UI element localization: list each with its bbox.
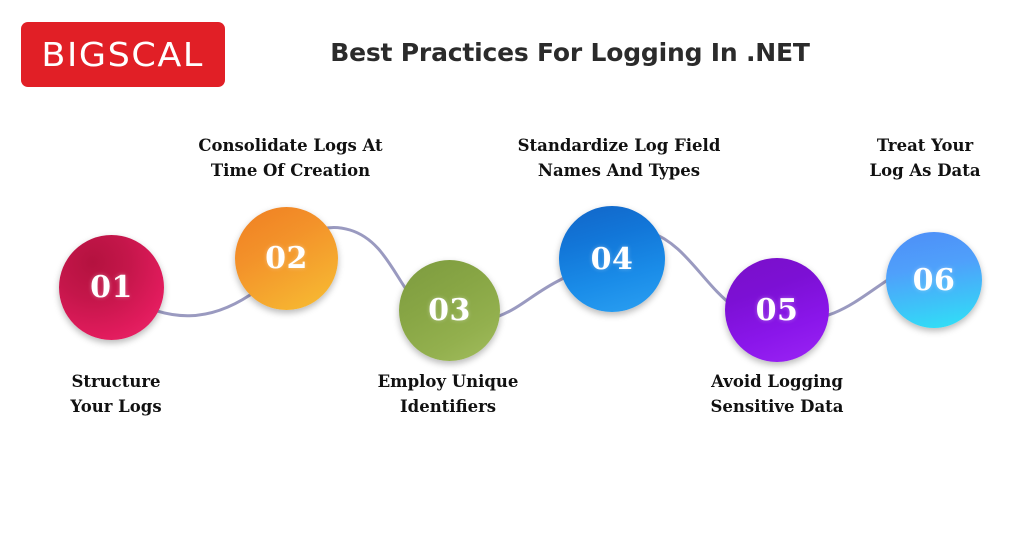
step-circle-04[interactable]: 04 (559, 206, 665, 312)
step-caption-04: Standardize Log Field Names And Types (503, 133, 735, 183)
step-caption-02: Consolidate Logs At Time Of Creation (178, 133, 403, 183)
step-number-03: 03 (428, 293, 471, 328)
step-circle-02[interactable]: 02 (235, 207, 338, 310)
step-circle-05[interactable]: 05 (725, 258, 829, 362)
step-caption-06: Treat Your Log As Data (841, 133, 1009, 183)
infographic-canvas: BIGSCAL Best Practices For Logging In .N… (0, 0, 1034, 534)
logo-text: BIGSCAL (42, 38, 205, 71)
step-caption-01: Structure Your Logs (16, 369, 216, 419)
page-title: Best Practices For Logging In .NET (240, 38, 900, 67)
step-number-01: 01 (90, 270, 133, 305)
step-number-05: 05 (756, 293, 799, 328)
step-number-06: 06 (913, 263, 956, 298)
step-circle-06[interactable]: 06 (886, 232, 982, 328)
step-number-02: 02 (265, 241, 308, 276)
step-number-04: 04 (591, 242, 634, 277)
bigscal-logo: BIGSCAL (21, 22, 225, 87)
step-circle-01[interactable]: 01 (59, 235, 164, 340)
step-circle-03[interactable]: 03 (399, 260, 500, 361)
step-caption-03: Employ Unique Identifiers (348, 369, 548, 419)
step-caption-05: Avoid Logging Sensitive Data (677, 369, 877, 419)
